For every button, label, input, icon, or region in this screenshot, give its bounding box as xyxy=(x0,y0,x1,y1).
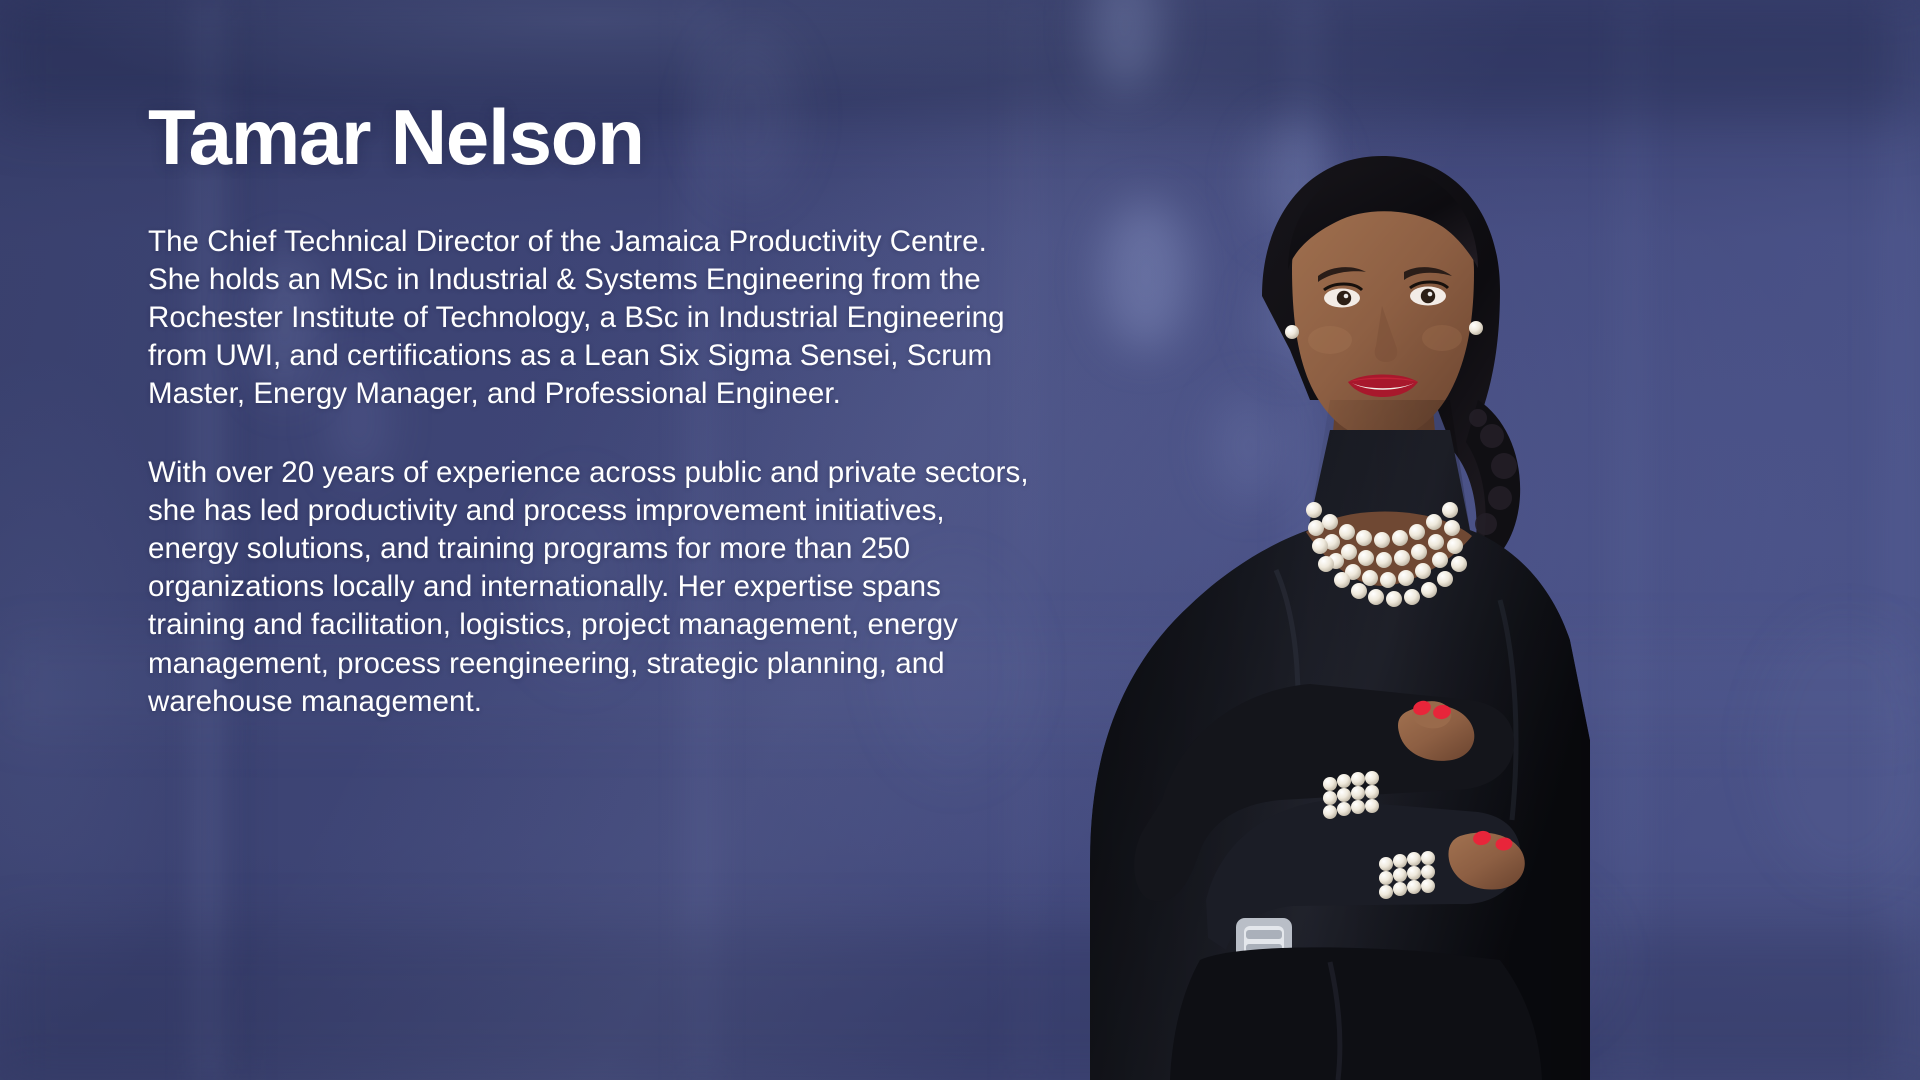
dress-lower xyxy=(1170,947,1542,1080)
page-title: Tamar Nelson xyxy=(148,96,1048,179)
bio-paragraph-credentials: The Chief Technical Director of the Jama… xyxy=(148,223,1030,414)
slide-root: Tamar Nelson The Chief Technical Directo… xyxy=(0,0,1920,1080)
bio-paragraph-experience: With over 20 years of experience across … xyxy=(148,454,1040,721)
portrait-image xyxy=(1030,100,1590,1080)
text-column: Tamar Nelson The Chief Technical Directo… xyxy=(148,96,1048,721)
